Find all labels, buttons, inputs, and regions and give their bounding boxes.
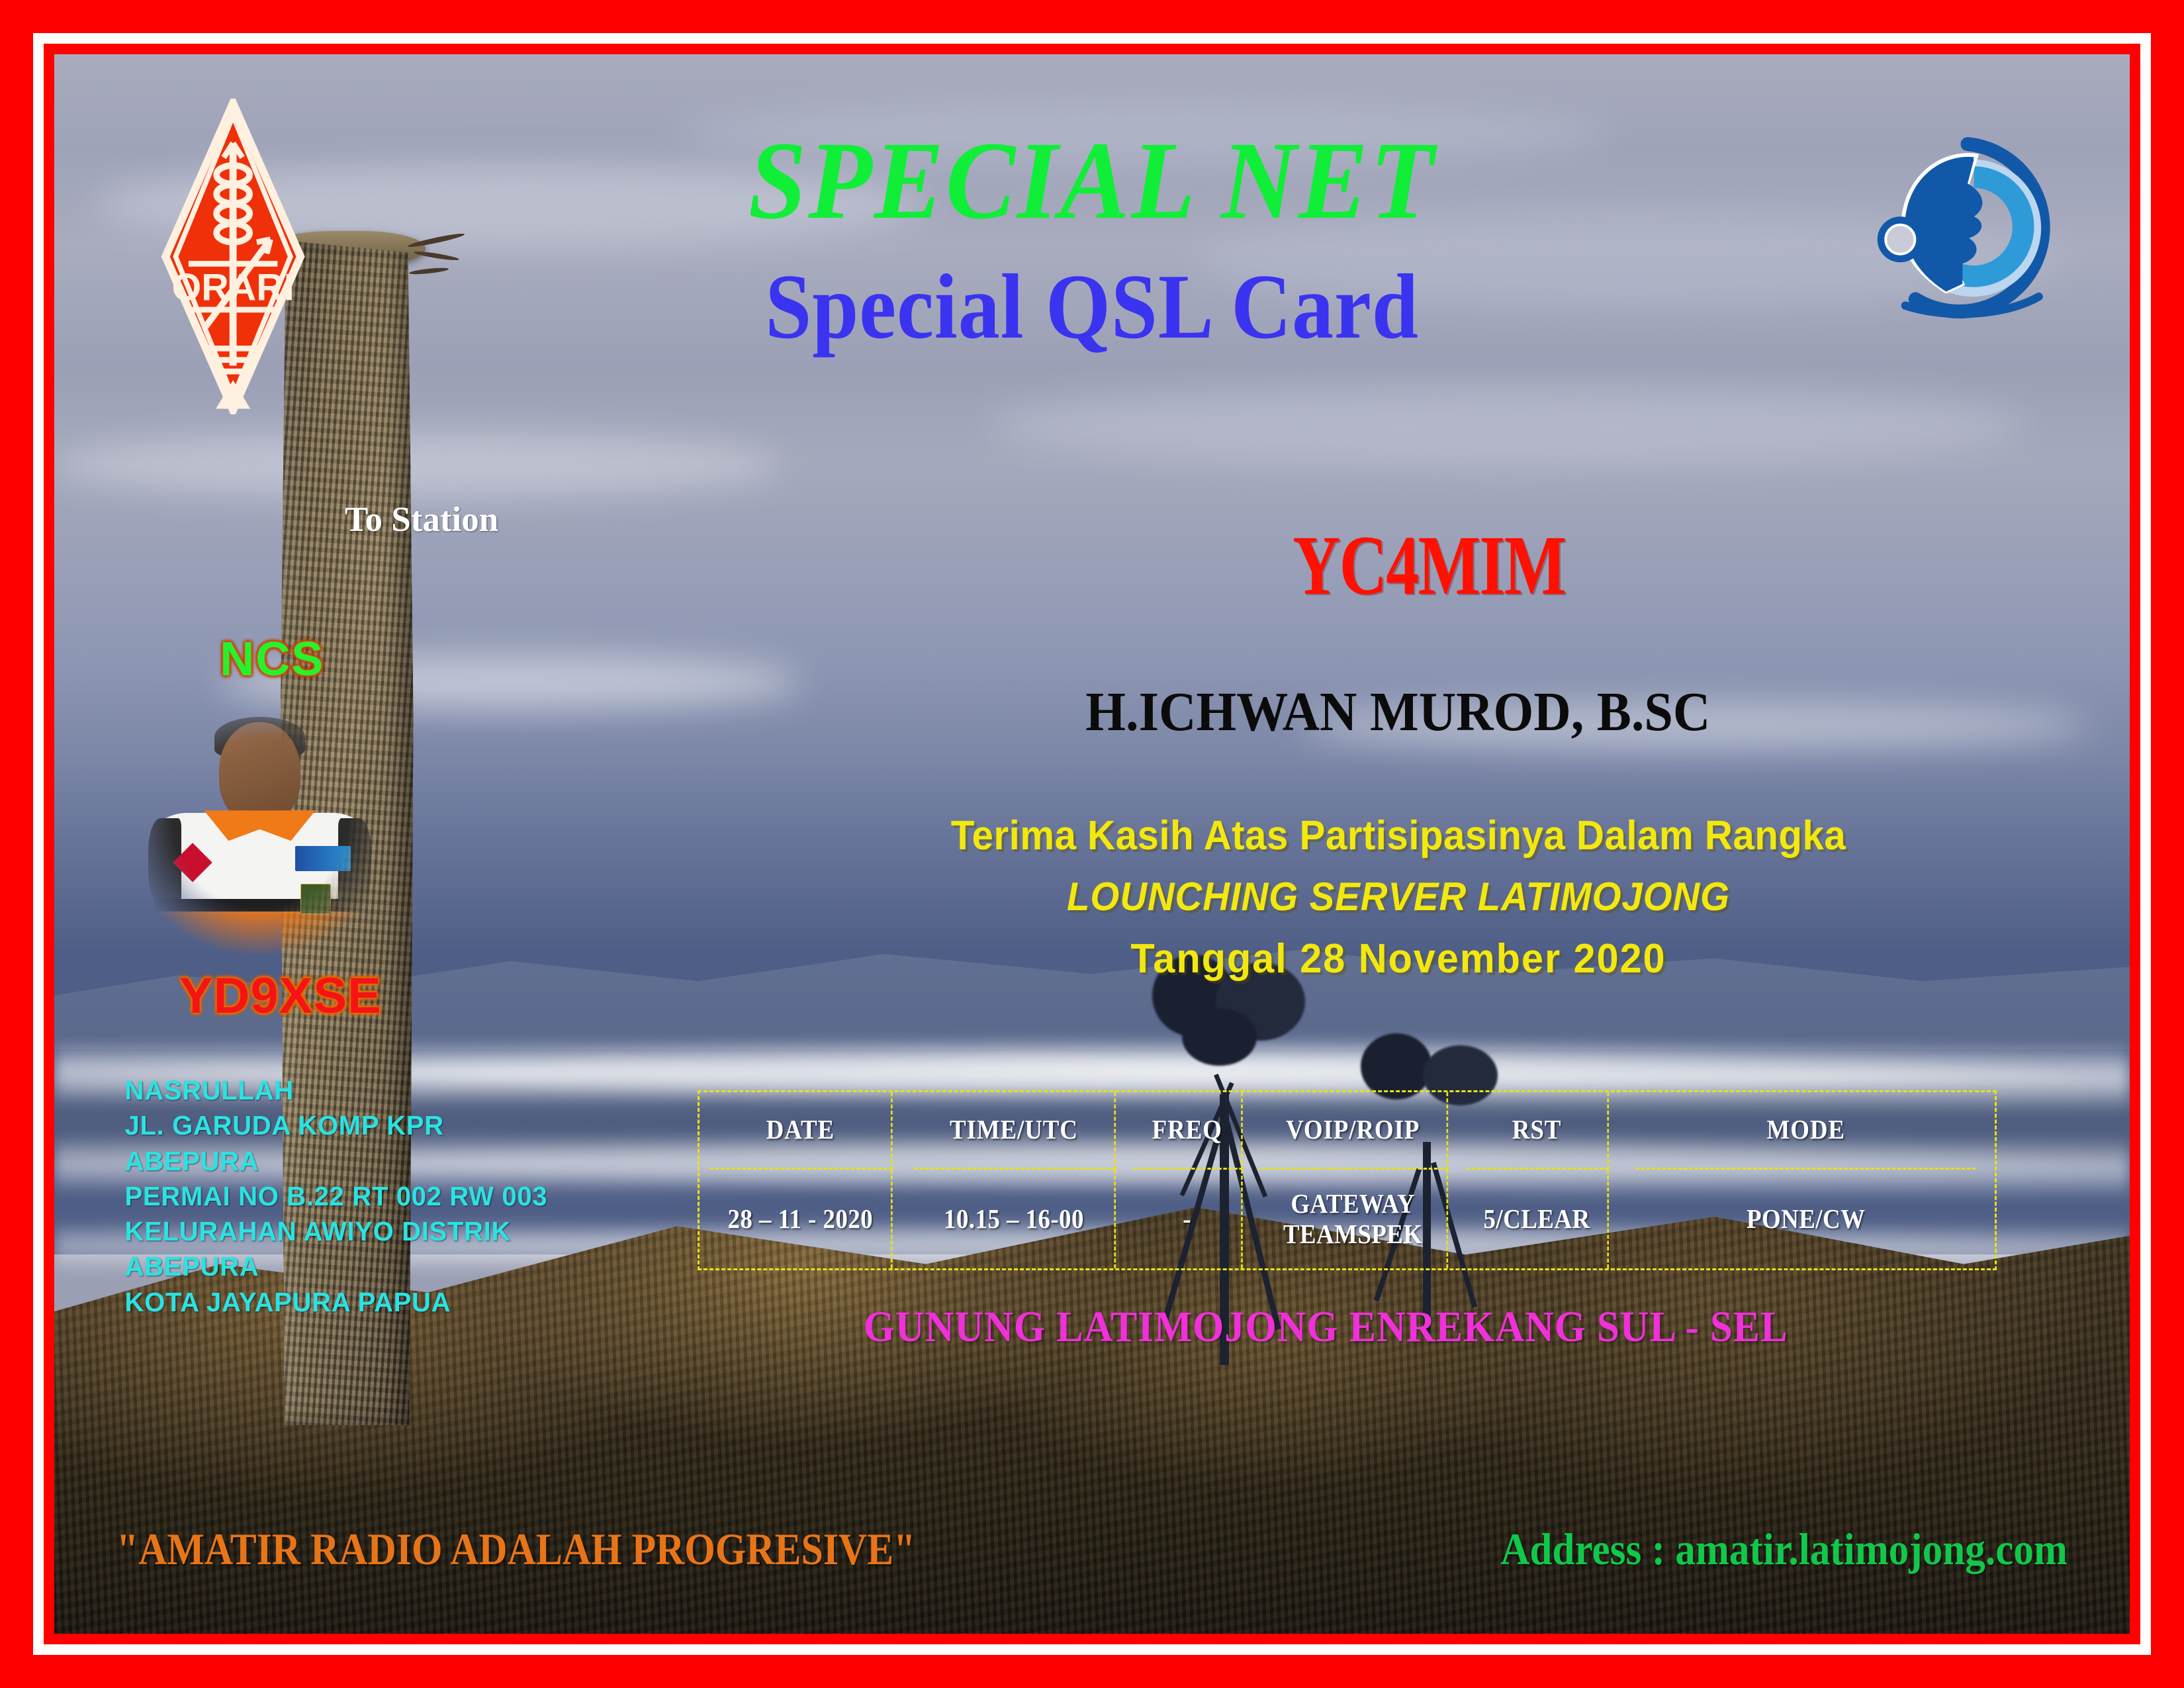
ncs-label: NCS	[137, 632, 407, 686]
event-line: LOUNCHING SERVER LATIMOJONG	[788, 874, 2007, 919]
table-header-time: TIME/UTC	[914, 1092, 1116, 1170]
ncs-photo-club-patch	[295, 846, 351, 871]
table-header-date: DATE	[710, 1092, 893, 1170]
qsl-card: ORARI	[0, 0, 2184, 1688]
cloud-band	[54, 434, 781, 496]
card-background-photo: ORARI	[54, 54, 2130, 1634]
table-header-mode: MODE	[1635, 1092, 1976, 1170]
ncs-photo-face	[219, 722, 300, 823]
table-header-rst: RST	[1467, 1092, 1609, 1170]
address-line: JL. GARUDA KOMP KPR	[125, 1108, 548, 1143]
table-header-voip-roip: VOIP/ROIP	[1259, 1092, 1448, 1170]
address-line: PERMAI NO B.22 RT 002 RW 003	[125, 1179, 548, 1214]
ncs-photo-id-badge	[300, 884, 331, 914]
table-cell-time: 10.15 – 16-00	[914, 1170, 1116, 1268]
address-line: ABEPURA	[125, 1144, 548, 1179]
page-subtitle: Special QSL Card	[158, 254, 2026, 360]
page-title: SPECIAL NET	[116, 117, 2068, 245]
address-line: NASRULLAH	[125, 1073, 548, 1108]
ncs-callsign: YD9XSE	[125, 967, 436, 1025]
table-cell-freq: -	[1133, 1170, 1243, 1268]
event-date-line: Tanggal 28 November 2020	[776, 935, 2021, 982]
table-cell-date: 28 – 11 - 2020	[710, 1170, 893, 1268]
ncs-photo-stripe	[154, 899, 366, 912]
qso-log-table: DATE TIME/UTC FREQ VOIP/ROIP RST MODE 28…	[698, 1090, 1997, 1270]
address-line: KOTA JAYAPURA PAPUA	[125, 1285, 548, 1320]
cloud-band	[988, 386, 2026, 465]
station-callsign: YC4MIM	[980, 517, 1879, 614]
card-inner-red-frame: ORARI	[44, 44, 2140, 1644]
table-header-freq: FREQ	[1133, 1092, 1243, 1170]
recipient-address-block: NASRULLAH JL. GARUDA KOMP KPR ABEPURA PE…	[125, 1073, 548, 1320]
operator-name: H.ICHWAN MUROD, B.SC	[833, 680, 1962, 744]
table-cell-mode: PONE/CW	[1635, 1170, 1976, 1268]
table-cell-voip-roip: GATEWAY TEAMSPEK	[1259, 1170, 1448, 1268]
address-line: KELURAHAN AWIYO DISTRIK	[125, 1214, 548, 1249]
table-cell-rst: 5/CLEAR	[1467, 1170, 1609, 1268]
location-line: GUNUNG LATIMOJONG ENREKANG SUL - SEL	[700, 1302, 1951, 1352]
address-line: ABEPURA	[125, 1249, 548, 1284]
slogan-text: "AMATIR RADIO ADALAH PROGRESIVE"	[116, 1523, 915, 1575]
thanks-line: Terima Kasih Atas Partisipasinya Dalam R…	[788, 812, 2007, 859]
to-station-label: To Station	[345, 500, 498, 539]
web-address-text: Address : amatir.latimojong.com	[1500, 1523, 2068, 1575]
card-white-frame-gap: ORARI	[33, 33, 2151, 1655]
ncs-photo-uniform	[154, 813, 366, 955]
ncs-operator-photo	[133, 702, 387, 955]
